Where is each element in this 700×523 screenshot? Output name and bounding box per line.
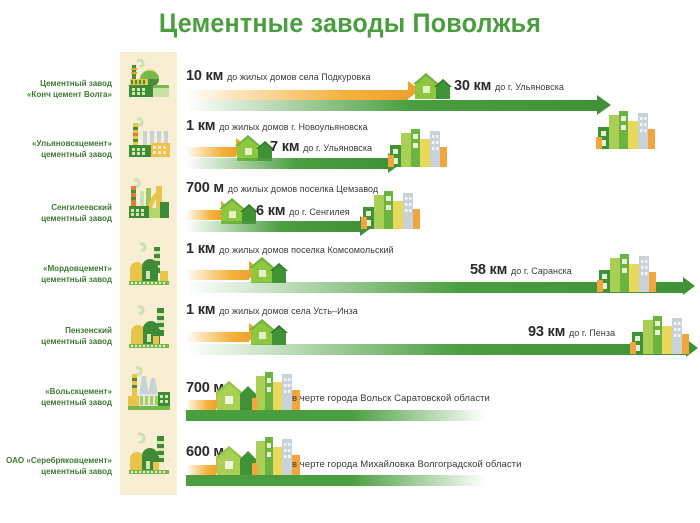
plant-row: «Ульяновскцемент» цементный завод [0, 113, 700, 171]
cement-plant-icon [124, 430, 174, 480]
far-distance-arrow-head [683, 277, 695, 295]
far-distance-arrow-bar [186, 158, 388, 169]
cement-plant-icon [124, 304, 174, 354]
far-distance-arrow-bar [186, 475, 486, 486]
plant-label: Сенгилеевский цементный завод [6, 202, 112, 223]
near-distance-value-1: 10 км до жилых домов села Подкуровка [186, 69, 371, 84]
far-distance-arrow-bar [186, 410, 486, 421]
far-distance-arrow-bar [186, 100, 597, 111]
near-distance-value-3: 700 м до жилых домов поселка Цемзавод [186, 181, 378, 196]
city-icon [630, 312, 690, 356]
near-distance-arrow-bar [186, 270, 249, 280]
houses-icon [412, 69, 456, 101]
near-distance-arrow-bar [186, 400, 216, 410]
far-distance-value-2: 7 км до г. Ульяновска [270, 140, 372, 155]
near-distance-arrow-bar [186, 147, 236, 157]
houses-and-city-icon [214, 435, 314, 477]
plant-label: ОАО «Серебряковцемент» цементный завод [6, 455, 112, 476]
plant-row: Сенгилеевский цементный завод [0, 175, 700, 233]
far-distance-value-3: 6 км до г. Сенгилея [256, 204, 350, 219]
houses-icon [248, 315, 292, 347]
plant-label: Пензенский цементный завод [6, 325, 112, 346]
cement-plant-icon [124, 57, 174, 107]
near-distance-arrow-bar [186, 210, 221, 220]
far-distance-value-1: 30 км до г. Ульяновска [454, 79, 564, 94]
city-icon [388, 125, 448, 169]
cement-plant-icon [124, 117, 174, 167]
near-distance-arrow-bar [186, 332, 249, 342]
city-icon [597, 250, 657, 294]
far-distance-arrow-bar [186, 344, 686, 355]
far-distance-value-5: 93 км до г. Пенза [528, 325, 615, 340]
plant-row: «Мордовцемент» цементный завод [0, 237, 700, 295]
plant-label: Цементный завод «Конч цемент Волга» [6, 78, 112, 99]
houses-and-city-icon [214, 370, 314, 412]
cement-plant-icon [124, 241, 174, 291]
plant-label: «Мордовцемент» цементный завод [6, 263, 112, 284]
plant-row: Пензенский цементный завод [0, 298, 700, 358]
plant-label: «Вольскцемент» цементный завод [6, 386, 112, 407]
near-distance-arrow-bar [186, 465, 216, 475]
houses-icon [248, 253, 292, 285]
plant-row: «Вольскцемент» цементный завод [0, 362, 700, 420]
plant-row: ОАО «Серебряковцемент» цементный завод [0, 424, 700, 486]
far-distance-value-4: 58 км до г. Саранска [470, 263, 572, 278]
plant-row: Цементный завод «Конч цемент Волга» [0, 55, 700, 113]
cement-plant-icon [124, 366, 174, 416]
plant-label: «Ульяновскцемент» цементный завод [6, 138, 112, 159]
page-title: Цементные заводы Поволжья [25, 8, 676, 39]
near-distance-arrow-bar [186, 90, 408, 100]
city-icon [361, 187, 421, 231]
far-distance-arrow-bar [186, 221, 360, 232]
in-city-note-7: в черте города Михайловка Волгоградской … [292, 460, 521, 470]
cement-plant-icon [124, 178, 174, 228]
infographic-page: Цементные заводы Поволжья Цементный заво… [0, 0, 700, 523]
in-city-note-6: в черте города Вольск Саратовской област… [292, 394, 490, 404]
